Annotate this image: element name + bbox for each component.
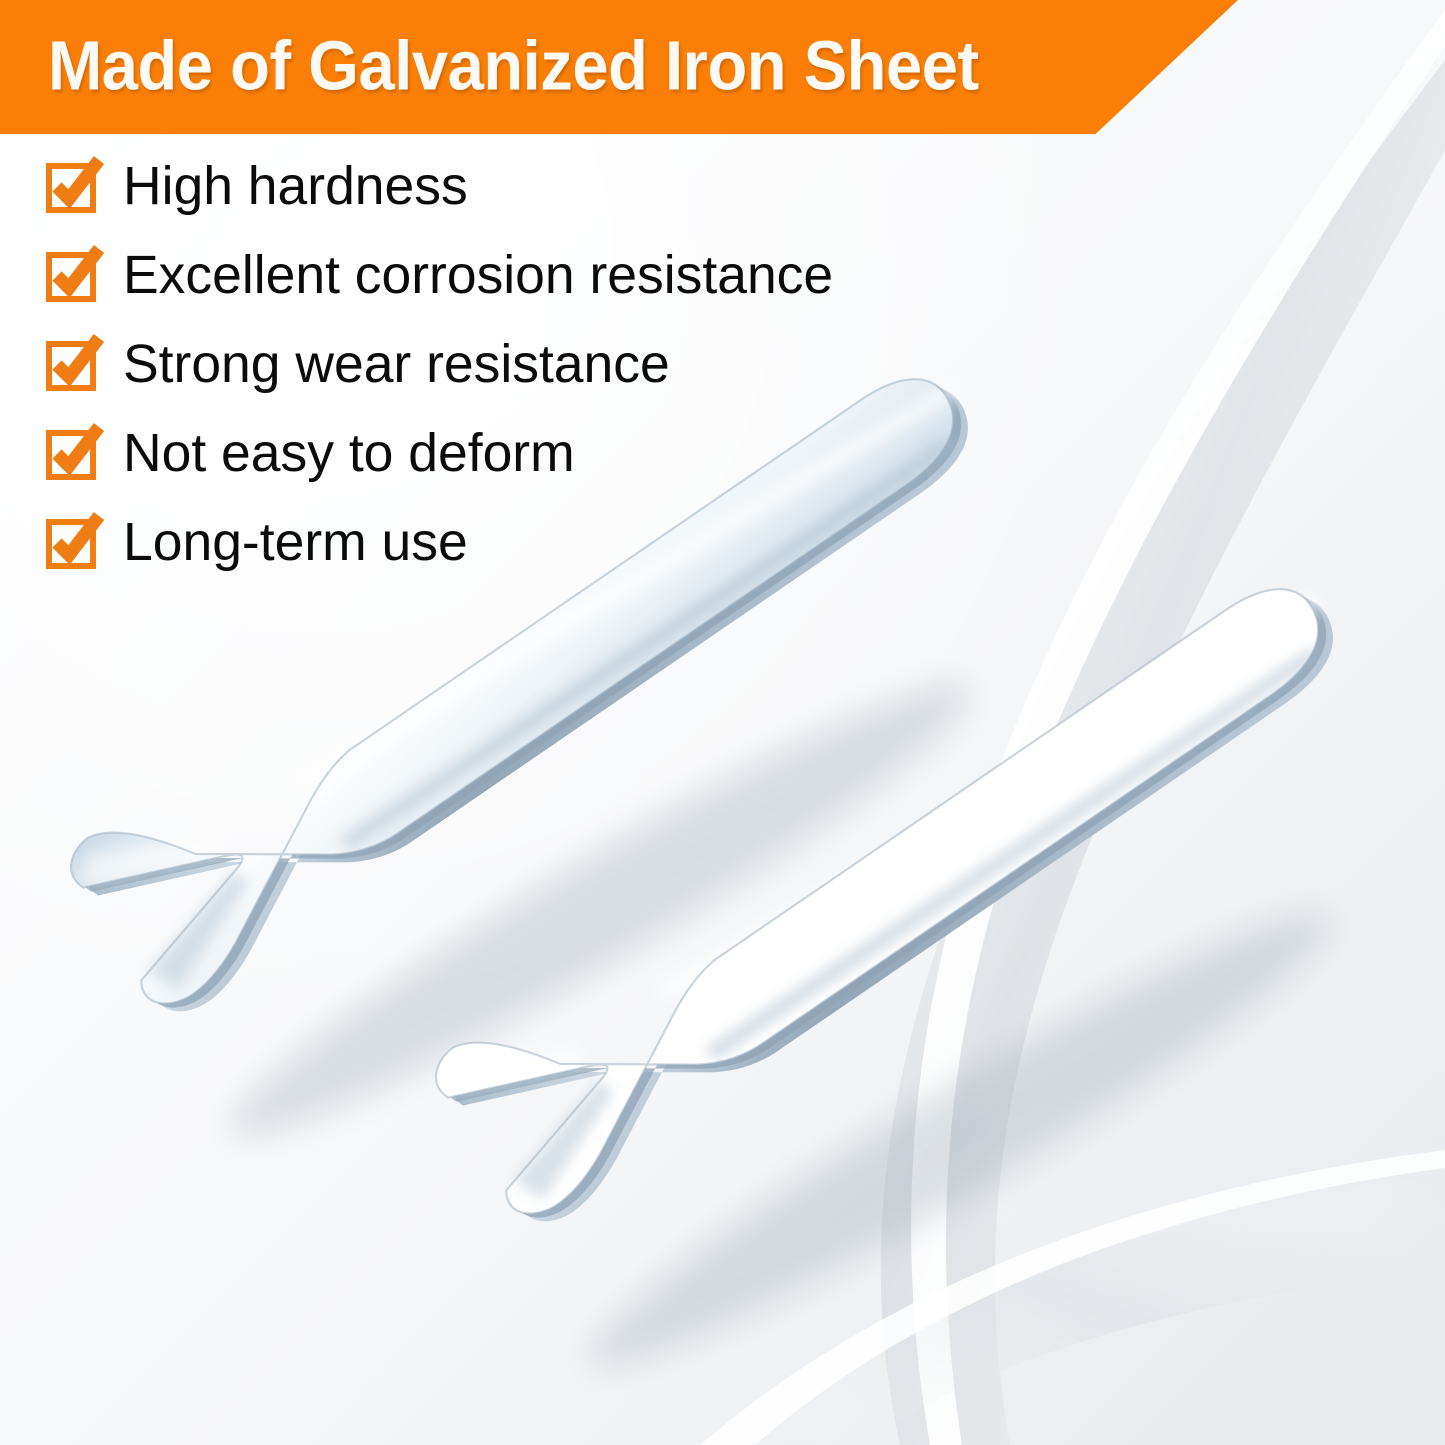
list-item: Excellent corrosion resistance xyxy=(47,247,840,303)
feature-list: High hardness Excellent corrosion resist… xyxy=(47,158,840,570)
product-feature-poster: Made of Galvanized Iron Sheet High hardn… xyxy=(0,0,1445,1445)
checked-box-icon xyxy=(47,249,99,301)
feature-label: Excellent corrosion resistance xyxy=(123,248,833,302)
feature-label: Strong wear resistance xyxy=(123,337,670,391)
feature-label: High hardness xyxy=(123,159,468,213)
list-item: High hardness xyxy=(47,158,840,214)
checked-box-icon xyxy=(47,516,99,568)
feature-label: Not easy to deform xyxy=(123,426,575,480)
page-title: Made of Galvanized Iron Sheet xyxy=(48,31,979,101)
feature-label: Long-term use xyxy=(123,515,468,569)
list-item: Not easy to deform xyxy=(47,425,840,481)
list-item: Strong wear resistance xyxy=(47,336,840,392)
header-banner: Made of Galvanized Iron Sheet xyxy=(0,0,1238,134)
checked-box-icon xyxy=(47,160,99,212)
checked-box-icon xyxy=(47,427,99,479)
checked-box-icon xyxy=(47,338,99,390)
list-item: Long-term use xyxy=(47,514,840,570)
